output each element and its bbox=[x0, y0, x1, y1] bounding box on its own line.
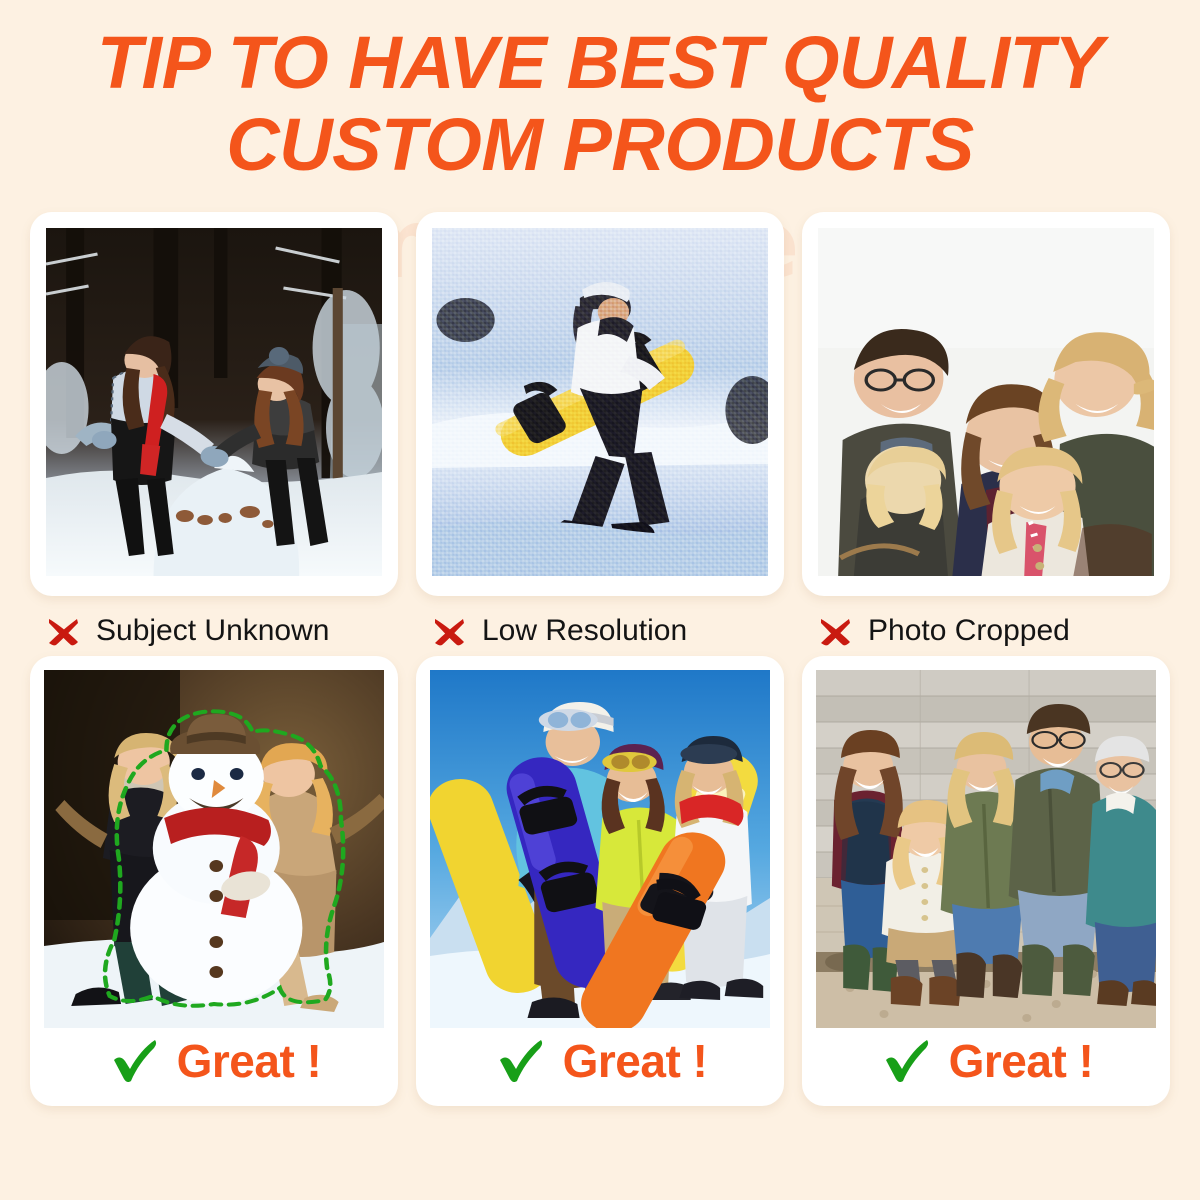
photo-great-snowboarders bbox=[430, 670, 770, 1028]
photo-great-snowman bbox=[44, 670, 384, 1028]
label-photo-cropped: Photo Cropped bbox=[802, 596, 1170, 650]
label-text: Great ! bbox=[563, 1034, 708, 1088]
tips-grid: Subject Unknown bbox=[30, 212, 1170, 1106]
label-great-snowman: Great ! bbox=[107, 1028, 322, 1102]
green-check-icon bbox=[493, 1034, 547, 1088]
red-x-icon bbox=[430, 612, 468, 650]
red-x-icon bbox=[816, 612, 854, 650]
label-low-resolution: Low Resolution bbox=[416, 596, 784, 650]
photo-card bbox=[30, 212, 398, 596]
label-great-snowboarders: Great ! bbox=[493, 1028, 708, 1102]
label-text: Subject Unknown bbox=[96, 614, 329, 648]
tip-card-photo-cropped: Photo Cropped bbox=[802, 212, 1170, 650]
tip-card-great-snowman: Great ! bbox=[30, 656, 398, 1106]
label-text: Low Resolution bbox=[482, 614, 687, 648]
photo-card: Great ! bbox=[30, 656, 398, 1106]
green-check-icon bbox=[107, 1034, 161, 1088]
tip-card-great-snowboarders: Great ! bbox=[416, 656, 784, 1106]
label-text: Photo Cropped bbox=[868, 614, 1070, 648]
tip-card-subject-unknown: Subject Unknown bbox=[30, 212, 398, 650]
tip-card-low-resolution: Low Resolution bbox=[416, 212, 784, 650]
photo-card: Great ! bbox=[802, 656, 1170, 1106]
red-x-icon bbox=[44, 612, 82, 650]
photo-subject-unknown bbox=[46, 228, 382, 576]
photo-low-resolution bbox=[432, 228, 768, 576]
photo-photo-cropped bbox=[818, 228, 1154, 576]
photo-card bbox=[802, 212, 1170, 596]
label-great-family: Great ! bbox=[879, 1028, 1094, 1102]
label-subject-unknown: Subject Unknown bbox=[30, 596, 398, 650]
label-text: Great ! bbox=[949, 1034, 1094, 1088]
label-text: Great ! bbox=[177, 1034, 322, 1088]
page-title-line-1: TIP TO HAVE BEST QUALITY bbox=[0, 22, 1200, 104]
page-title: TIP TO HAVE BEST QUALITY CUSTOM PRODUCTS bbox=[0, 22, 1200, 186]
photo-card: Great ! bbox=[416, 656, 784, 1106]
tip-card-great-family: Great ! bbox=[802, 656, 1170, 1106]
photo-great-family bbox=[816, 670, 1156, 1028]
photo-card bbox=[416, 212, 784, 596]
page-title-line-2: CUSTOM PRODUCTS bbox=[0, 104, 1200, 186]
green-check-icon bbox=[879, 1034, 933, 1088]
